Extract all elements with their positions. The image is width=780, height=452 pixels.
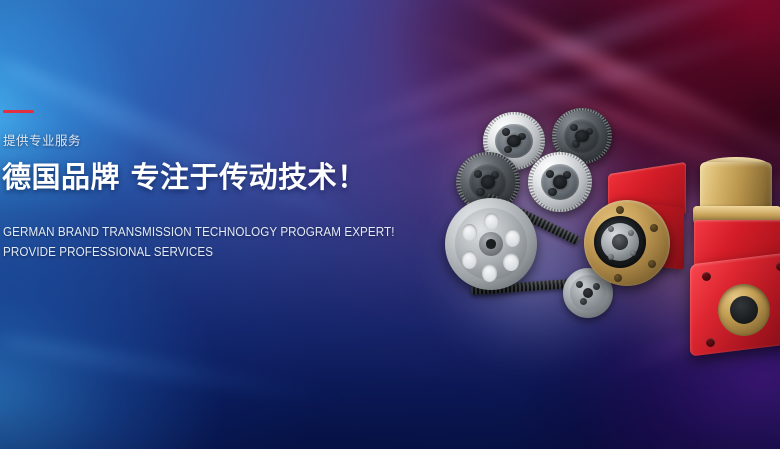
- subtitle-block: GERMAN BRAND TRANSMISSION TECHNOLOGY PRO…: [3, 222, 402, 263]
- pulley-bolt: [580, 298, 587, 305]
- gearbox-bore: [612, 234, 628, 250]
- right-angle-gearbox-front: [690, 162, 780, 352]
- faceplate-bolt: [706, 338, 715, 347]
- pulley-bolt: [546, 170, 554, 178]
- pulley-bolt: [570, 124, 578, 131]
- subtitle-line-2: PROVIDE PROFESSIONAL SERVICES: [3, 242, 402, 262]
- faceplate-bolt: [776, 262, 780, 271]
- pulley-bolt: [576, 281, 583, 288]
- pulley-bore: [553, 175, 567, 188]
- pulley-bore: [507, 135, 521, 148]
- flange-bolt: [648, 260, 656, 268]
- pulley-lightening-hole: [462, 251, 478, 268]
- large-toothed-pulley: [445, 198, 537, 290]
- hub-bolt: [608, 226, 614, 232]
- flange-bolt: [614, 274, 622, 282]
- pulley-bore: [575, 130, 588, 142]
- headline-text: 德国品牌 专注于传动技术！: [2, 162, 432, 192]
- hub-bolt: [628, 230, 634, 236]
- hero-banner: 提供专业服务 德国品牌 专注于传动技术！ GERMAN BRAND TRANSM…: [0, 0, 780, 452]
- faceplate-bolt: [702, 272, 711, 281]
- pulley-bore: [583, 288, 593, 298]
- hub-bolt: [630, 250, 636, 256]
- pulley-bolt: [474, 170, 482, 178]
- pulley-bore: [486, 239, 495, 248]
- kicker-text: 提供专业服务: [3, 135, 432, 148]
- hub-bolt: [608, 254, 614, 260]
- accent-rule: [3, 110, 34, 113]
- pulley-bore: [481, 175, 495, 188]
- pulley-lightening-hole: [503, 253, 519, 270]
- subtitle-line-1: GERMAN BRAND TRANSMISSION TECHNOLOGY PRO…: [3, 222, 402, 242]
- pulley-lightening-hole: [505, 229, 521, 246]
- pulley-lightening-hole: [482, 264, 498, 281]
- gearbox-bore-slot: [730, 296, 758, 324]
- flange-bolt: [616, 206, 624, 214]
- banner-copy: 提供专业服务 德国品牌 专注于传动技术！ GERMAN BRAND TRANSM…: [2, 110, 432, 262]
- pulley-bolt: [502, 128, 510, 136]
- flange-bolt: [650, 224, 658, 232]
